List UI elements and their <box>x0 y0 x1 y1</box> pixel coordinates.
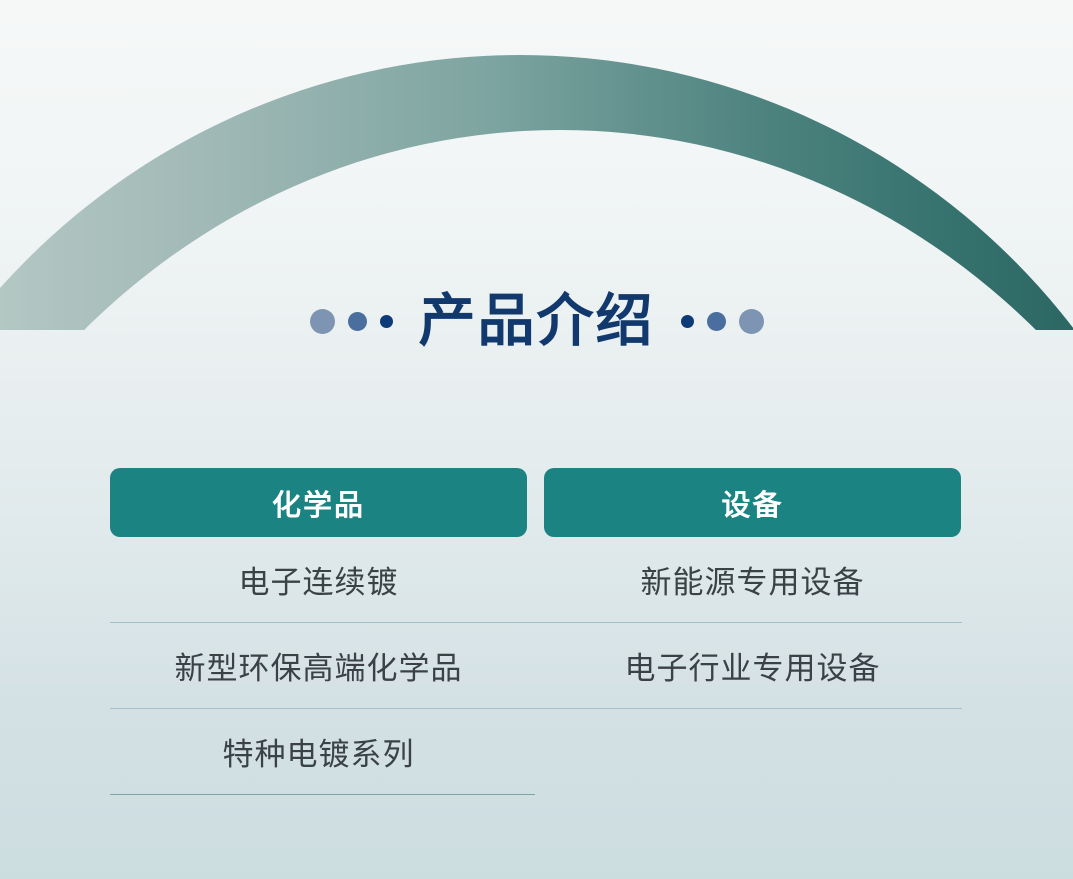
column-header-label: 设备 <box>721 482 783 524</box>
list-item-label: 特种电镀系列 <box>223 729 415 774</box>
list-item-label: 新型环保高端化学品 <box>175 643 463 688</box>
list-item-label: 电子连续镀 <box>239 557 399 602</box>
list-item[interactable]: 电子行业专用设备 <box>544 623 961 708</box>
page-title: 产品介绍 <box>419 293 655 350</box>
list-item-label: 电子行业专用设备 <box>625 643 881 688</box>
decor-dots-left <box>310 309 393 334</box>
list-item[interactable]: 电子连续镀 <box>110 537 527 622</box>
page-title-row: 产品介绍 <box>0 286 1073 356</box>
decor-dot-icon <box>739 309 764 334</box>
decor-dot-icon <box>707 312 726 331</box>
decorative-arc-band <box>0 0 1073 330</box>
column-header-chemicals[interactable]: 化学品 <box>110 468 527 537</box>
list-item[interactable]: 新能源专用设备 <box>544 537 961 622</box>
column-header-label: 化学品 <box>272 482 365 524</box>
table-row: 电子连续镀 新能源专用设备 <box>110 537 962 622</box>
decor-dot-icon <box>380 315 393 328</box>
decor-dots-right <box>681 309 764 334</box>
decor-dot-icon <box>681 315 694 328</box>
list-item[interactable]: 特种电镀系列 <box>110 709 527 794</box>
list-item-label: 新能源专用设备 <box>641 557 865 602</box>
table-row: 新型环保高端化学品 电子行业专用设备 <box>110 623 962 708</box>
row-separator <box>110 794 535 795</box>
product-table: 化学品 设备 电子连续镀 新能源专用设备 新型环保高端化学品 电子行业专用设备 … <box>110 468 962 795</box>
table-header-row: 化学品 设备 <box>110 468 962 537</box>
table-row: 特种电镀系列 <box>110 709 962 794</box>
decor-dot-icon <box>348 312 367 331</box>
list-item[interactable]: 新型环保高端化学品 <box>110 623 527 708</box>
column-header-equipment[interactable]: 设备 <box>544 468 961 537</box>
decor-dot-icon <box>310 309 335 334</box>
